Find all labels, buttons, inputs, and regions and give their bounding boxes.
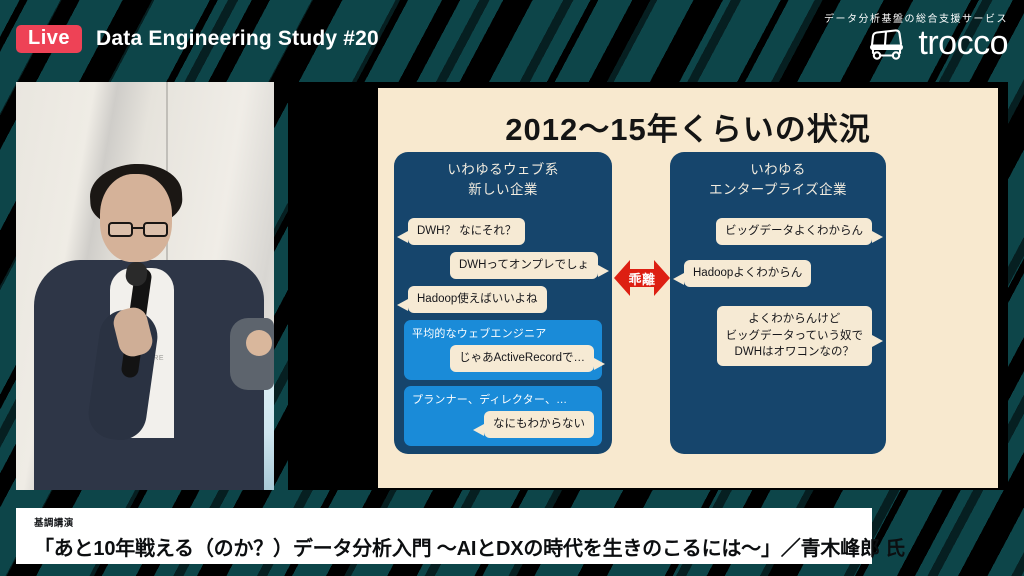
arrow-label: 乖離 <box>614 250 670 306</box>
bubble-row: DWHってオンプレでしょ <box>450 252 598 279</box>
event-title: Data Engineering Study #20 <box>96 27 379 51</box>
header-bar: Live Data Engineering Study #20 データ分析基盤の… <box>0 0 1024 78</box>
brand-logo-group: データ分析基盤の総合支援サービス trocco <box>824 10 1008 60</box>
bubble-line-1: よくわからんけど <box>726 311 863 328</box>
slide-title: 2012〜15年くらいの状況 <box>378 104 998 149</box>
speech-bubble: DWH？ なにそれ？ <box>408 218 525 245</box>
speech-bubble: DWHってオンプレでしょ <box>450 252 598 279</box>
panel-right-title-line2: エンタープライズ企業 <box>670 180 886 200</box>
panel-enterprise-companies: いわゆる エンタープライズ企業 ビッグデータよくわからん Hadoopよくわから… <box>670 152 886 454</box>
subbox-label: 平均的なウェブエンジニア <box>412 325 594 341</box>
bubble-row: よくわからんけど ビッグデータっていう奴で DWHはオワコンなの？ <box>717 306 872 366</box>
speech-bubble-multiline: よくわからんけど ビッグデータっていう奴で DWHはオワコンなの？ <box>717 306 872 366</box>
bubble-row: Hadoop使えばいいよね <box>408 286 547 313</box>
bubble-row: Hadoopよくわからん <box>684 260 811 287</box>
caption-title: 「あと10年戦える（のか？）データ分析入門 〜AIとDXの時代を生きのこるには〜… <box>34 532 872 561</box>
panel-left-title: いわゆるウェブ系 新しい企業 <box>394 152 612 201</box>
slide-frame: 2012〜15年くらいの状況 いわゆるウェブ系 新しい企業 DWH？ なにそれ？… <box>288 82 1008 490</box>
speaker-video: TREASURE DATA <box>16 82 274 490</box>
panel-right-title: いわゆる エンタープライズ企業 <box>670 152 886 201</box>
subbox-planner-director: プランナー、ディレクター、… なにもわからない <box>404 386 602 446</box>
stream-screen: Live Data Engineering Study #20 データ分析基盤の… <box>0 0 1024 576</box>
speech-bubble: ビッグデータよくわからん <box>716 218 872 245</box>
bubble-line-2: ビッグデータっていう奴で <box>726 328 863 345</box>
bubble-row: ビッグデータよくわからん <box>716 218 872 245</box>
cart-icon <box>866 26 910 60</box>
bubble-line-3: DWHはオワコンなの？ <box>726 344 863 361</box>
glasses-icon <box>108 222 168 237</box>
panel-web-companies: いわゆるウェブ系 新しい企業 DWH？ なにそれ？ DWHってオンプレでしょ H… <box>394 152 612 454</box>
caption-kicker: 基調講演 <box>34 515 872 529</box>
speech-bubble: じゃあActiveRecordで… <box>450 345 594 372</box>
bubble-row: DWH？ なにそれ？ <box>408 218 525 245</box>
speech-bubble: Hadoopよくわからん <box>684 260 811 287</box>
divergence-arrow: 乖離 <box>614 250 670 306</box>
subbox-web-engineer: 平均的なウェブエンジニア じゃあActiveRecordで… <box>404 320 602 380</box>
panel-left-title-line2: 新しい企業 <box>394 180 612 200</box>
speaker-head <box>100 174 172 262</box>
panel-left-title-line1: いわゆるウェブ系 <box>394 160 612 180</box>
live-badge: Live <box>16 25 82 53</box>
brand-tagline: データ分析基盤の総合支援サービス <box>824 10 1008 25</box>
lower-third-caption: 基調講演 「あと10年戦える（のか？）データ分析入門 〜AIとDXの時代を生きの… <box>16 508 872 564</box>
presentation-slide: 2012〜15年くらいの状況 いわゆるウェブ系 新しい企業 DWH？ なにそれ？… <box>378 88 998 488</box>
panel-right-title-line1: いわゆる <box>670 160 886 180</box>
speech-bubble: Hadoop使えばいいよね <box>408 286 547 313</box>
subbox-label: プランナー、ディレクター、… <box>412 391 594 407</box>
brand-name: trocco <box>918 26 1008 60</box>
speaker-right-hand <box>246 330 272 356</box>
speech-bubble: なにもわからない <box>484 411 594 438</box>
